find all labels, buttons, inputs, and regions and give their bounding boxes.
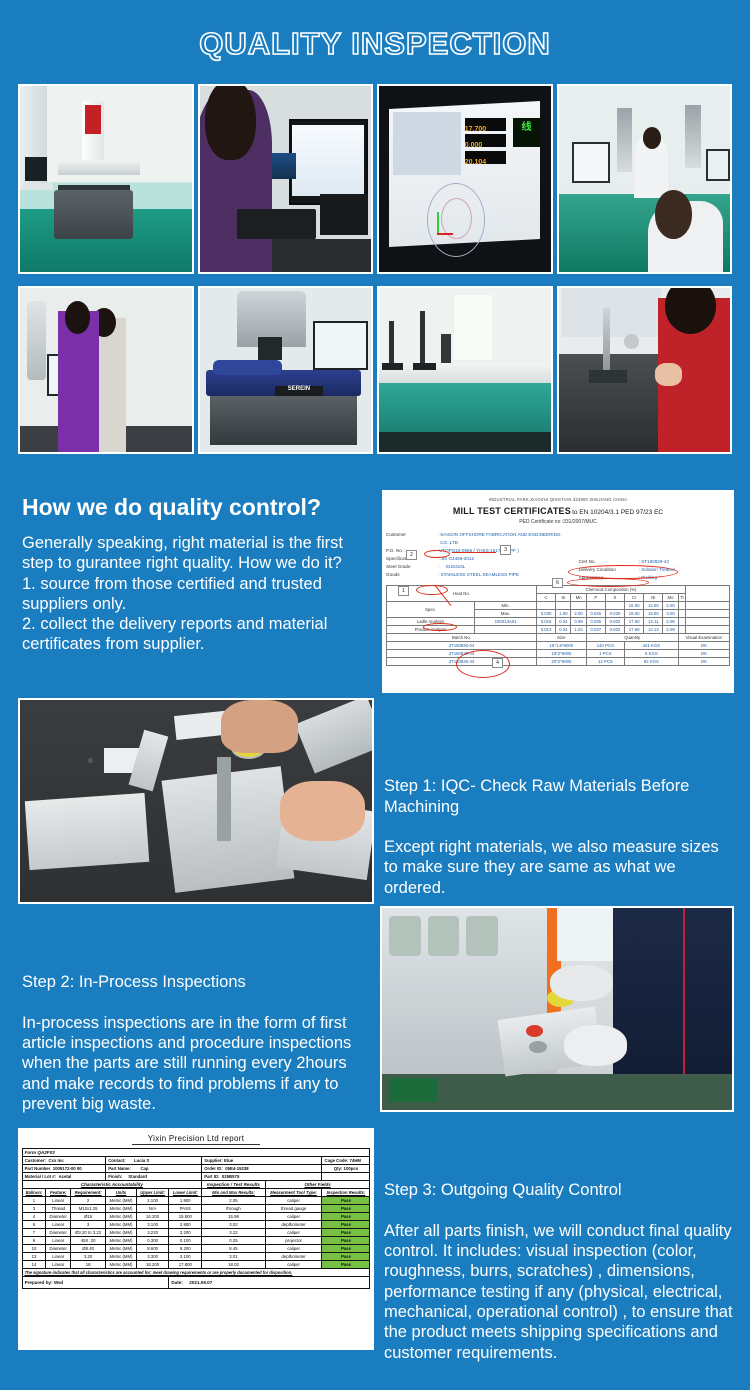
report-info-row: Part Number 1005172-00 00 Part Name: Cap… bbox=[22, 1165, 370, 1173]
annotation-ellipse-chem bbox=[567, 578, 649, 587]
cell-results: 8.45 bbox=[202, 1245, 266, 1253]
report-col: Min and Max Results: bbox=[202, 1189, 266, 1197]
gallery-row-1: Coordinate measuring machine in inspecti… bbox=[18, 84, 732, 274]
photo-height-gauge-operator[interactable]: Technician using height gauge on granite… bbox=[557, 286, 733, 454]
cell-feature: Linear bbox=[46, 1197, 71, 1205]
cell-tool: projector bbox=[265, 1237, 322, 1245]
step-1-text: Step 1: IQC- Check Raw Materials Before … bbox=[384, 756, 736, 918]
report-section: Other Fields bbox=[265, 1181, 370, 1189]
mill-test-certificate[interactable]: INDUSTRIAL PARK,XIAOZHI QINGTIAN 323900 … bbox=[382, 490, 734, 693]
cert-chem-col: Mo bbox=[663, 594, 678, 602]
cert-field-label: Steel Grade bbox=[386, 563, 438, 571]
cell-upper: N/A bbox=[136, 1205, 169, 1213]
cert-cell: 0.037 bbox=[586, 626, 605, 634]
cert-cell: 2.00 bbox=[571, 610, 586, 618]
annotation-box-1: 1 bbox=[398, 586, 409, 596]
cert-field-label: Customer bbox=[386, 531, 438, 547]
prepared-by-label: Prepared by: bbox=[25, 1280, 53, 1285]
annotation-box-2: 2 bbox=[406, 550, 417, 560]
report-col: Lower Limit: bbox=[169, 1189, 202, 1197]
cell-upper: 3.220 bbox=[136, 1229, 169, 1237]
cert-ped-no: PED Certificate no :331/2007/MUC bbox=[382, 519, 734, 525]
cell-feature: Linear bbox=[46, 1221, 71, 1229]
cert-cell: 0.013 bbox=[536, 626, 555, 634]
cell-feature: Linear bbox=[46, 1237, 71, 1245]
report-column-header: Balloon: Feature: Requirement: Units Upp… bbox=[22, 1189, 370, 1197]
report-col: Measurment Tool Type: bbox=[265, 1189, 322, 1197]
inspection-report-document[interactable]: Yixin Precision Ltd report Form QA2F03 C… bbox=[18, 1128, 374, 1350]
annotation-arrow-spec bbox=[452, 552, 496, 553]
cell-requirement: M12x1.25 bbox=[71, 1205, 106, 1213]
photo-cmm-software-readout[interactable]: 17.700 0.000 20.104 线 CMM software scree… bbox=[377, 84, 553, 274]
prepared-by-value: Wwl bbox=[54, 1280, 63, 1285]
cell-units: Metric (MM) bbox=[106, 1221, 137, 1229]
cell-requirement: 2 bbox=[71, 1197, 106, 1205]
status-badge: Pass bbox=[322, 1221, 370, 1229]
report-value: Cxx Inc bbox=[48, 1158, 63, 1163]
cert-field-value: SUS316L bbox=[446, 563, 466, 571]
cell-units: Metric (MM) bbox=[106, 1213, 137, 1221]
cert-cell bbox=[475, 626, 537, 634]
table-row: 4DiameterØ16Metric (MM)16.20015.80015.98… bbox=[22, 1213, 370, 1221]
cell-feature: Diameter bbox=[46, 1213, 71, 1221]
report-label: Supplier: Elue bbox=[204, 1158, 233, 1163]
photo-caption: Two technicians operating video measurin… bbox=[20, 446, 156, 452]
cert-cell: 3T160830-04 bbox=[387, 642, 537, 650]
status-badge: Pass bbox=[322, 1245, 370, 1253]
cell-lower: 0.100 bbox=[169, 1237, 202, 1245]
report-note: The signature indicates that all charact… bbox=[22, 1269, 370, 1277]
cell-feature: Linear bbox=[46, 1261, 71, 1269]
cert-cell: OK bbox=[678, 658, 729, 666]
photo-operator-measuring-instrument[interactable]: Operator measuring part at computer stat… bbox=[198, 84, 374, 274]
step-1-title: Step 1: IQC- Check Raw Materials Before … bbox=[384, 776, 736, 817]
report-label: Material / Lot #: bbox=[25, 1174, 57, 1179]
cell-lower: 3.200 bbox=[169, 1229, 202, 1237]
cert-chem-row-sub: Min. bbox=[475, 602, 537, 610]
cert-cell: 20*2*6000 bbox=[536, 658, 586, 666]
cert-cell: 1.02 bbox=[571, 626, 586, 634]
table-row: 14Linear18Metric (MM)18.20017.80018.02ca… bbox=[22, 1261, 370, 1269]
step-2-image[interactable] bbox=[380, 906, 734, 1112]
report-col: Balloon: bbox=[22, 1189, 46, 1197]
cert-chem-col: P bbox=[586, 594, 605, 602]
date-value: 2021.09.07 bbox=[189, 1280, 212, 1285]
status-badge: Pass bbox=[322, 1213, 370, 1221]
cell-requirement: Ø8.40 bbox=[71, 1245, 106, 1253]
photo-gauge-bench[interactable]: Bench with height gauges and instruments bbox=[377, 286, 553, 454]
cert-cell bbox=[556, 602, 571, 610]
cell-balloon: 6 bbox=[22, 1221, 46, 1229]
photo-caption: Operator measuring part at computer stat… bbox=[200, 266, 318, 272]
photo-caption: Bench with height gauges and instruments bbox=[379, 446, 492, 452]
report-label: Customer: bbox=[25, 1158, 47, 1163]
table-row: 7DiameterØ3.20 to 3.22Metric (MM)3.2203.… bbox=[22, 1229, 370, 1237]
report-table: Form QA2F03 Customer: Cxx Inc Contact: L… bbox=[22, 1148, 371, 1289]
cert-batch-col: Visual Examination bbox=[678, 634, 729, 642]
report-value: Lucia S bbox=[134, 1158, 149, 1163]
cell-balloon: 1 bbox=[22, 1197, 46, 1205]
cert-cell: 12.00 bbox=[644, 602, 663, 610]
cert-chem-col: Ni bbox=[644, 594, 663, 602]
cell-requirement: 45X .20 bbox=[71, 1237, 106, 1245]
cert-cell: OK bbox=[678, 642, 729, 650]
cell-requirement: 3.20 bbox=[71, 1253, 106, 1261]
cell-upper: 8.600 bbox=[136, 1245, 169, 1253]
cert-cell: 0.045 bbox=[586, 610, 605, 618]
date-label: Date: bbox=[171, 1280, 183, 1285]
cell-feature: Thread bbox=[46, 1205, 71, 1213]
cell-results: 15.98 bbox=[202, 1213, 266, 1221]
cert-cell: 18.00 bbox=[625, 610, 644, 618]
report-info-row: Material / Lot #: Acetal Finish: Standar… bbox=[22, 1173, 370, 1181]
cell-balloon: 3 bbox=[22, 1205, 46, 1213]
step-3-title: Step 3: Outgoing Quality Control bbox=[384, 1180, 736, 1200]
cell-units: Metric (MM) bbox=[106, 1229, 137, 1237]
cert-cell: 1.00 bbox=[556, 610, 571, 618]
report-label: Part Number bbox=[25, 1166, 51, 1171]
cell-results: 3.22 bbox=[202, 1229, 266, 1237]
cell-upper: 0.300 bbox=[136, 1237, 169, 1245]
status-badge: Pass bbox=[322, 1261, 370, 1269]
cell-lower: PASS bbox=[169, 1205, 202, 1213]
report-value: Cap bbox=[140, 1166, 148, 1171]
annotation-ellipse-ladle bbox=[423, 623, 457, 631]
cell-balloon: 9 bbox=[22, 1237, 46, 1245]
step-1-body: Except right materials, we also measure … bbox=[384, 837, 736, 898]
report-info-row: Customer: Cxx Inc Contact: Lucia S Suppl… bbox=[22, 1157, 370, 1165]
cell-upper: 3.100 bbox=[136, 1221, 169, 1229]
cert-field-label: Goods bbox=[386, 571, 438, 579]
cell-lower: 17.800 bbox=[169, 1261, 202, 1269]
cert-field-value: STAINLESS STEEL SEAMLESS PIPE bbox=[441, 571, 519, 579]
cert-cell: 0.015 bbox=[536, 618, 555, 626]
cert-batch-col: Quantity bbox=[586, 634, 678, 642]
table-row: 9Linear45X .20Metric (MM)0.3000.1000.25p… bbox=[22, 1237, 370, 1245]
cert-cell: 12.13 bbox=[644, 626, 663, 634]
cell-units: Metric (MM) bbox=[106, 1253, 137, 1261]
cell-upper: 3.300 bbox=[136, 1253, 169, 1261]
table-row: 3ThreadM12x1.25Metric (MM)N/APASSthrough… bbox=[22, 1205, 370, 1213]
cert-cell: 18*2*6000 bbox=[536, 650, 586, 658]
table-row: 6Linear3Metric (MM)3.1002.9003.02depthom… bbox=[22, 1221, 370, 1229]
cert-cell: 2.06 bbox=[663, 618, 678, 626]
table-row: 10DiameterØ8.40Metric (MM)8.6008.2008.45… bbox=[22, 1245, 370, 1253]
cert-cell bbox=[678, 610, 685, 618]
cell-lower: 8.200 bbox=[169, 1245, 202, 1253]
cert-title-suffix: to EN 10204/3.1 PED 97/23 EC bbox=[572, 509, 663, 516]
cell-units: Metric (MM) bbox=[106, 1205, 137, 1213]
annotation-ellipse-size bbox=[456, 650, 510, 678]
cell-tool: depthometer bbox=[265, 1253, 322, 1261]
cert-cell bbox=[536, 602, 555, 610]
step-2-text: Step 2: In-Process Inspections In-proces… bbox=[22, 952, 374, 1135]
report-col: Feature: bbox=[46, 1189, 71, 1197]
report-label: Part Name: bbox=[108, 1166, 131, 1171]
cell-feature: Diameter bbox=[46, 1229, 71, 1237]
cell-results: 18.02 bbox=[202, 1261, 266, 1269]
report-col: Upper Limit: bbox=[136, 1189, 169, 1197]
cell-requirement: 3 bbox=[71, 1221, 106, 1229]
report-label: Qty: 100pcs bbox=[334, 1166, 358, 1171]
cert-cell: 5 KGS bbox=[625, 650, 679, 658]
cert-cell: 17.50 bbox=[625, 618, 644, 626]
qc-body: Generally speaking, right material is th… bbox=[22, 533, 372, 655]
report-footer-row: Prepared by: Wwl Date: 2021.09.07 bbox=[22, 1277, 370, 1289]
cert-title: MILL TEST CERTIFICATES bbox=[453, 506, 571, 516]
report-value: Standard bbox=[128, 1174, 147, 1179]
cell-results: 2.05 bbox=[202, 1197, 266, 1205]
cert-batch-row: 3T160830-04 15*1.5*6000 140 PCS 421 KGS … bbox=[387, 642, 730, 650]
cell-lower: 3.100 bbox=[169, 1253, 202, 1261]
cert-batch-col: Batch No. bbox=[387, 634, 537, 642]
step-1-image[interactable] bbox=[18, 698, 374, 904]
cell-results: through bbox=[202, 1205, 266, 1213]
cell-units: Metric (MM) bbox=[106, 1197, 137, 1205]
cert-chem-row-sub: Max. bbox=[475, 610, 537, 618]
photo-caption: CMM software screen with digital readout bbox=[379, 266, 489, 272]
cell-tool: caliper bbox=[265, 1229, 322, 1237]
cell-balloon: 10 bbox=[22, 1245, 46, 1253]
cell-lower: 1.900 bbox=[169, 1197, 202, 1205]
cert-cell: 421 KGS bbox=[625, 642, 679, 650]
report-value: Acetal bbox=[58, 1174, 71, 1179]
status-badge: Pass bbox=[322, 1229, 370, 1237]
cert-cell: 1 PCS bbox=[586, 650, 624, 658]
cell-balloon: 7 bbox=[22, 1229, 46, 1237]
cert-chem-col: Mn bbox=[571, 594, 586, 602]
photo-inspection-room-staff[interactable]: Inspection room with staff at measuring … bbox=[557, 84, 733, 274]
cert-cell bbox=[586, 602, 605, 610]
cert-chem-col: Cr bbox=[625, 594, 644, 602]
report-label: Order ID: bbox=[204, 1166, 223, 1171]
report-label: Cage Code: 74HM bbox=[324, 1158, 361, 1163]
cell-requirement: Ø3.20 to 3.22 bbox=[71, 1229, 106, 1237]
photo-caption: Technician using height gauge on granite… bbox=[559, 446, 683, 452]
cell-tool: caliper bbox=[265, 1261, 322, 1269]
annotation-box-3: 3 bbox=[500, 545, 511, 555]
report-form-id: Form QA2F03 bbox=[22, 1149, 370, 1157]
cell-upper: 2.100 bbox=[136, 1197, 169, 1205]
report-value: 025B575 bbox=[222, 1174, 239, 1179]
cell-units: Metric (MM) bbox=[106, 1237, 137, 1245]
annotation-ellipse-steel-grade bbox=[424, 550, 450, 558]
cell-results: 0.25 bbox=[202, 1237, 266, 1245]
report-title: Yixin Precision Ltd report bbox=[132, 1134, 260, 1145]
photo-serein-optical-machine[interactable]: SEREIN SEREIN optical measuring machine bbox=[198, 286, 374, 454]
cert-cell: 12 PCS bbox=[586, 658, 624, 666]
cert-cell bbox=[571, 602, 586, 610]
cert-cell: 15.00 bbox=[644, 610, 663, 618]
cert-batch-col: Size bbox=[536, 634, 586, 642]
cert-chem-col: Ti bbox=[678, 594, 685, 602]
cert-batch-row: 3T160825-43 20*2*6000 12 PCS 82 KGS OK bbox=[387, 658, 730, 666]
cert-cell: 0.030 bbox=[536, 610, 555, 618]
gallery-row-2: Two technicians operating video measurin… bbox=[18, 286, 732, 454]
cell-lower: 2.900 bbox=[169, 1221, 202, 1229]
report-value: 05E4-15238 bbox=[225, 1166, 248, 1171]
cell-balloon: 4 bbox=[22, 1213, 46, 1221]
cert-cell bbox=[605, 602, 624, 610]
cert-chem-col: S bbox=[605, 594, 624, 602]
status-badge: Pass bbox=[322, 1253, 370, 1261]
cell-results: 3.02 bbox=[202, 1221, 266, 1229]
cell-requirement: 18 bbox=[71, 1261, 106, 1269]
cert-chem-col: C bbox=[536, 594, 555, 602]
cert-cell: 0.002 bbox=[605, 618, 624, 626]
cell-units: Metric (MM) bbox=[106, 1261, 137, 1269]
cell-balloon: 14 bbox=[22, 1261, 46, 1269]
cert-cell: 2.09 bbox=[663, 626, 678, 634]
cell-upper: 16.200 bbox=[136, 1213, 169, 1221]
cell-feature: Diameter bbox=[46, 1245, 71, 1253]
cert-cell: 0.002 bbox=[605, 626, 624, 634]
cert-address: INDUSTRIAL PARK,XIAOZHI QINGTIAN 323900 … bbox=[382, 497, 734, 502]
report-section-row: Characteristic Accountability Inspection… bbox=[22, 1181, 370, 1189]
report-section: Inspection / Test Results bbox=[202, 1181, 266, 1189]
report-note-row: The signature indicates that all charact… bbox=[22, 1269, 370, 1277]
photo-caption: Coordinate measuring machine in inspecti… bbox=[20, 266, 154, 272]
cell-tool: caliper bbox=[265, 1197, 322, 1205]
report-col: Inspection Results: bbox=[322, 1189, 370, 1197]
page-title: QUALITY INSPECTION bbox=[0, 0, 750, 62]
qc-heading: How we do quality control? bbox=[22, 494, 372, 521]
cert-cell: 82 KGS bbox=[625, 658, 679, 666]
photo-cmm-machine-lab[interactable]: Coordinate measuring machine in inspecti… bbox=[18, 84, 194, 274]
cert-cell: 140 PCS bbox=[586, 642, 624, 650]
report-col: Units bbox=[106, 1189, 137, 1197]
cell-tool: thread gauge bbox=[265, 1205, 322, 1213]
cell-tool: caliper bbox=[265, 1213, 322, 1221]
photo-caption: Inspection room with staff at measuring … bbox=[559, 266, 686, 272]
cert-chem-row: Spec. Min. 16.00 12.00 2.00 bbox=[387, 602, 730, 610]
cert-cell: 0.34 bbox=[556, 618, 571, 626]
cell-tool: depthometer bbox=[265, 1221, 322, 1229]
cert-chem-row-label: Spec. bbox=[387, 602, 475, 618]
cert-cell: 0.34 bbox=[556, 626, 571, 634]
cert-cell bbox=[678, 618, 685, 626]
photo-vms-video-measuring[interactable]: Two technicians operating video measurin… bbox=[18, 286, 194, 454]
cert-cell: 17.69 bbox=[625, 626, 644, 634]
report-value: 1005172-00 00 bbox=[53, 1166, 82, 1171]
step-2-title: Step 2: In-Process Inspections bbox=[22, 972, 374, 992]
cert-batch-header: Batch No. Size Quantity Visual Examinati… bbox=[387, 634, 730, 642]
cert-cell bbox=[678, 602, 685, 610]
report-label: Contact: bbox=[108, 1158, 125, 1163]
cell-tool: caliper bbox=[265, 1245, 322, 1253]
cert-cell: 3.00 bbox=[663, 610, 678, 618]
annotation-ellipse-heat-no bbox=[416, 585, 448, 595]
cert-cell: 16.00 bbox=[625, 602, 644, 610]
cert-heat-no-value: 160313A01 bbox=[475, 618, 537, 626]
status-badge: Pass bbox=[322, 1197, 370, 1205]
cell-upper: 18.200 bbox=[136, 1261, 169, 1269]
report-label: Finish: bbox=[108, 1174, 122, 1179]
cell-results: 3.01 bbox=[202, 1253, 266, 1261]
cert-cell: 0.030 bbox=[605, 610, 624, 618]
cert-cell: 0.99 bbox=[571, 618, 586, 626]
report-title-wrap: Yixin Precision Ltd report bbox=[18, 1128, 374, 1146]
cert-cell bbox=[678, 626, 685, 634]
step-3-text: Step 3: Outgoing Quality Control After a… bbox=[384, 1160, 736, 1383]
status-badge: Pass bbox=[322, 1237, 370, 1245]
cell-lower: 15.800 bbox=[169, 1213, 202, 1221]
cell-balloon: 13 bbox=[22, 1253, 46, 1261]
photo-caption: SEREIN optical measuring machine bbox=[200, 446, 295, 452]
table-row: 1Linear2Metric (MM)2.1001.9002.05caliper… bbox=[22, 1197, 370, 1205]
cert-cell: 2.00 bbox=[663, 602, 678, 610]
cert-chem-col: Si bbox=[556, 594, 571, 602]
report-section: Characteristic Accountability bbox=[22, 1181, 202, 1189]
cert-batch-row: 3T160826-04 18*2*6000 1 PCS 5 KGS OK bbox=[387, 650, 730, 658]
report-col: Requirement: bbox=[71, 1189, 106, 1197]
table-row: 13Linear3.20Metric (MM)3.3003.1003.01dep… bbox=[22, 1253, 370, 1261]
annotation-ellipse-appearance bbox=[568, 565, 678, 579]
step-3-body: After all parts finish, we will conduct … bbox=[384, 1221, 736, 1363]
annotation-box-5: 6 bbox=[552, 578, 563, 588]
cert-cell: 12.11 bbox=[644, 618, 663, 626]
step-2-body: In-process inspections are in the form o… bbox=[22, 1013, 374, 1114]
cell-units: Metric (MM) bbox=[106, 1245, 137, 1253]
status-badge: Pass bbox=[322, 1205, 370, 1213]
cert-cell: 0.035 bbox=[586, 618, 605, 626]
cell-requirement: Ø16 bbox=[71, 1213, 106, 1221]
cell-feature: Linear bbox=[46, 1253, 71, 1261]
cert-cell: OK bbox=[678, 650, 729, 658]
cert-cell: 15*1.5*6000 bbox=[536, 642, 586, 650]
report-label: Part ID: bbox=[204, 1174, 219, 1179]
